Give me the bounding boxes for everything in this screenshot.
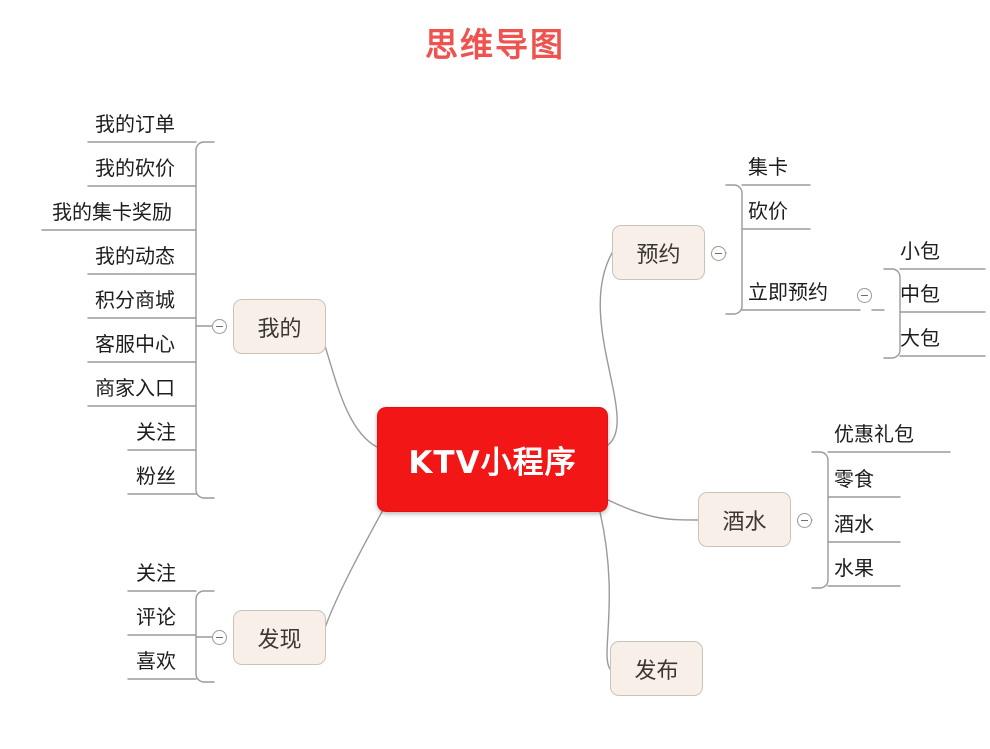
- leaf-mine-1[interactable]: 我的砍价: [95, 158, 175, 178]
- collapse-toggle-drinks[interactable]: [797, 513, 812, 528]
- root-node[interactable]: KTV小程序: [377, 407, 608, 512]
- branch-node-discover[interactable]: 发现: [233, 610, 326, 665]
- leaf-mine-3[interactable]: 我的动态: [95, 246, 175, 266]
- leaf-drinks-1[interactable]: 零食: [834, 469, 874, 489]
- leaf-mine-6[interactable]: 商家入口: [95, 378, 175, 398]
- leaf-discover-1[interactable]: 评论: [136, 607, 176, 627]
- leaf-discover-0[interactable]: 关注: [136, 563, 176, 583]
- leaf-drinks-0[interactable]: 优惠礼包: [834, 424, 914, 444]
- mindmap-canvas: 思维导图: [0, 0, 990, 749]
- page-title: 思维导图: [0, 18, 990, 66]
- collapse-toggle-booking-now[interactable]: [857, 288, 872, 303]
- collapse-toggle-mine[interactable]: [212, 319, 227, 334]
- branch-node-publish[interactable]: 发布: [610, 641, 703, 696]
- collapse-toggle-discover[interactable]: [212, 630, 227, 645]
- leaf-mine-0[interactable]: 我的订单: [95, 114, 175, 134]
- leaf-drinks-2[interactable]: 酒水: [834, 514, 874, 534]
- branch-node-drinks[interactable]: 酒水: [698, 492, 791, 547]
- leaf-room-1[interactable]: 中包: [900, 284, 940, 304]
- leaf-booking-0[interactable]: 集卡: [748, 157, 788, 177]
- branch-node-mine[interactable]: 我的: [233, 299, 326, 354]
- leaf-mine-4[interactable]: 积分商城: [95, 290, 175, 310]
- leaf-mine-8[interactable]: 粉丝: [136, 466, 176, 486]
- leaf-booking-1[interactable]: 砍价: [748, 201, 788, 221]
- leaf-mine-7[interactable]: 关注: [136, 422, 176, 442]
- leaf-booking-2[interactable]: 立即预约: [748, 282, 828, 302]
- leaf-mine-5[interactable]: 客服中心: [95, 334, 175, 354]
- leaf-discover-2[interactable]: 喜欢: [136, 651, 176, 671]
- leaf-mine-2[interactable]: 我的集卡奖励: [52, 202, 172, 222]
- leaf-room-0[interactable]: 小包: [900, 241, 940, 261]
- leaf-drinks-3[interactable]: 水果: [834, 558, 874, 578]
- branch-node-booking[interactable]: 预约: [612, 225, 705, 280]
- leaf-room-2[interactable]: 大包: [900, 328, 940, 348]
- collapse-toggle-booking[interactable]: [711, 246, 726, 261]
